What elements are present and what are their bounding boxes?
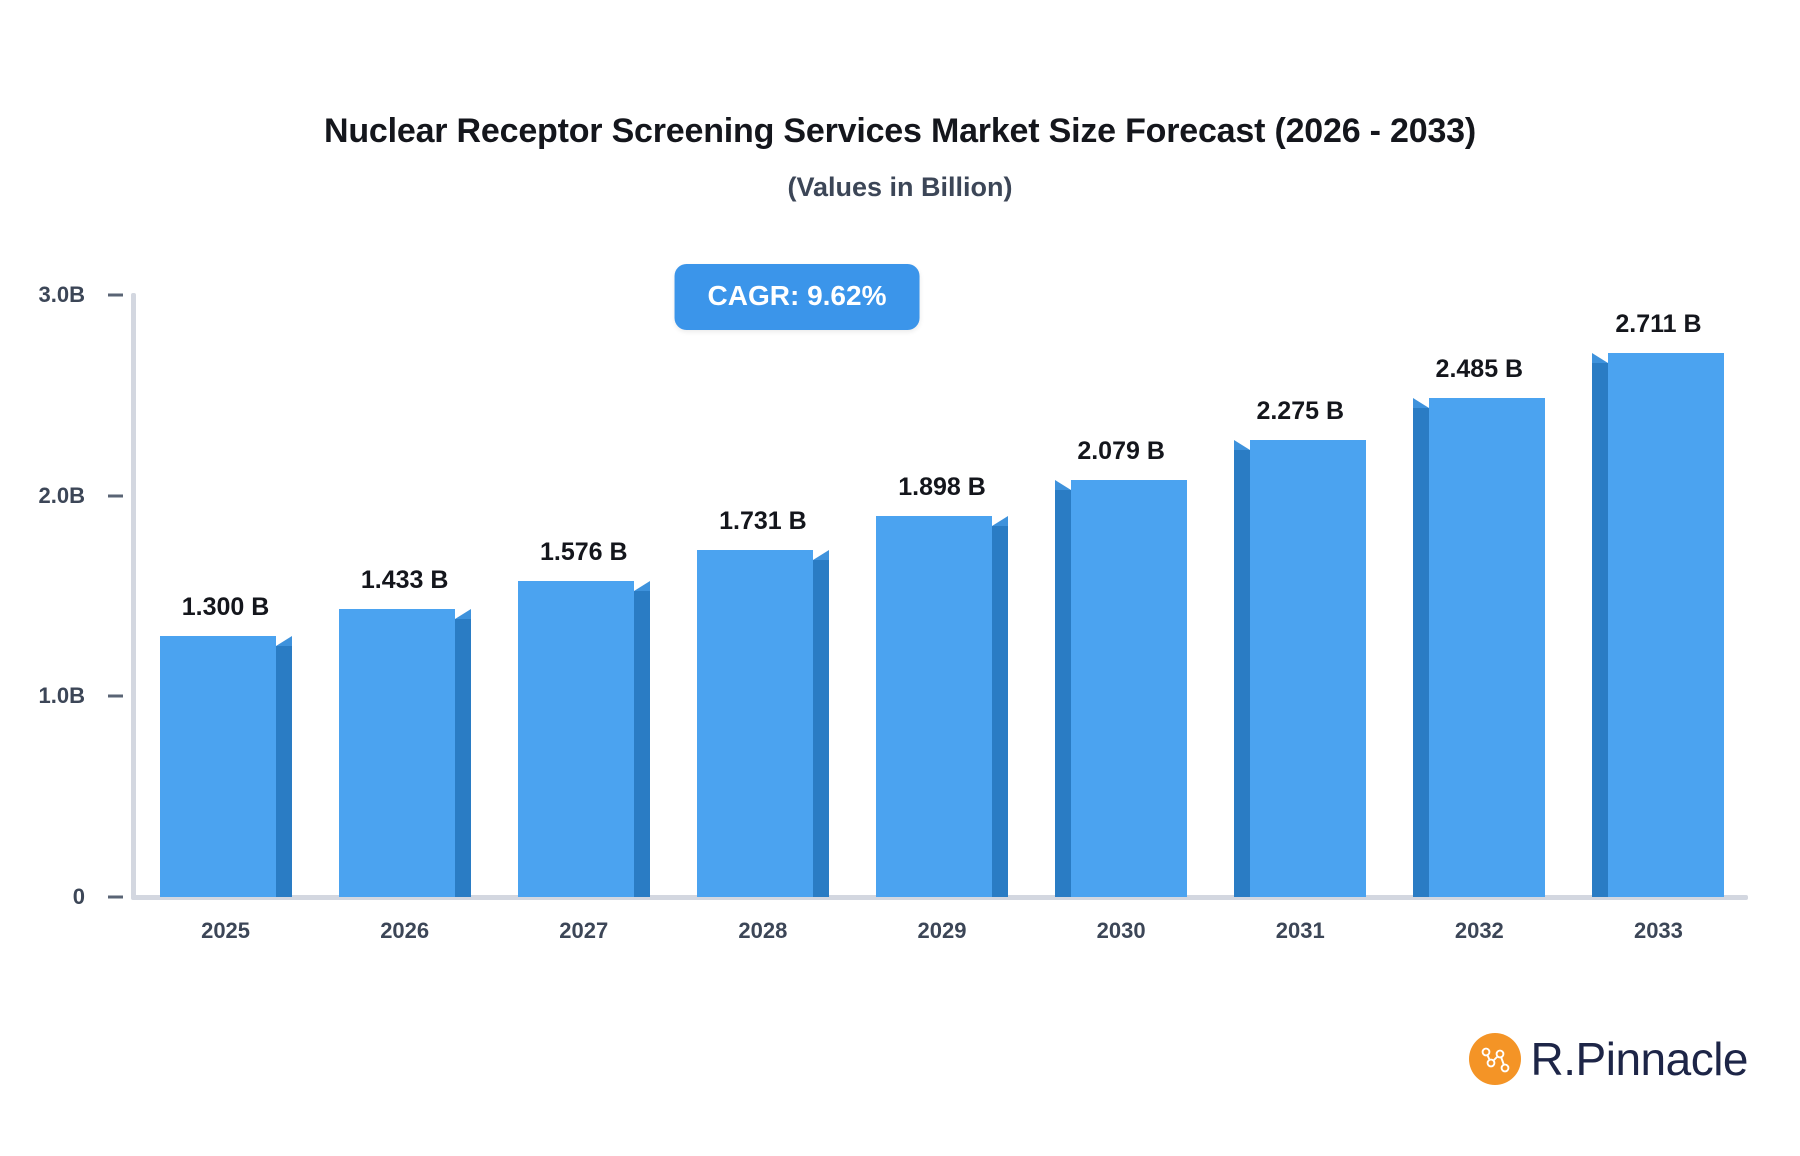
bar-front-face xyxy=(1429,398,1545,897)
bar-front-face xyxy=(518,581,634,897)
bar-top-face xyxy=(1413,398,1429,408)
bar-value-label: 2.485 B xyxy=(1436,355,1524,384)
bar-top-face xyxy=(1055,480,1071,490)
bar[interactable]: 2.485 B xyxy=(1413,398,1545,897)
network-graph-icon xyxy=(1469,1033,1521,1085)
bar-side-face xyxy=(276,646,292,897)
y-tick-mark xyxy=(108,695,123,698)
y-tick-mark xyxy=(108,494,123,497)
bar-side-face xyxy=(1234,450,1250,897)
bar-value-label: 1.898 B xyxy=(898,473,986,502)
chart-canvas: Nuclear Receptor Screening Services Mark… xyxy=(0,0,1800,1156)
bar-side-face xyxy=(634,591,650,897)
bar-side-face xyxy=(992,526,1008,897)
bar-value-label: 1.731 B xyxy=(719,507,807,536)
x-tick-label: 2031 xyxy=(1211,918,1390,944)
y-tick-label: 2.0B xyxy=(39,483,85,509)
bar[interactable]: 1.731 B xyxy=(697,550,829,897)
bar-value-label: 2.079 B xyxy=(1077,437,1165,466)
bar[interactable]: 1.300 B xyxy=(160,636,292,897)
bar-value-label: 2.711 B xyxy=(1615,310,1701,339)
brand-logo: R.Pinnacle xyxy=(1469,1032,1748,1086)
y-tick-label: 1.0B xyxy=(39,683,85,709)
bar-front-face xyxy=(876,516,992,897)
bar-top-face xyxy=(276,636,292,646)
bar-front-face xyxy=(1071,480,1187,897)
bar-top-face xyxy=(1592,353,1608,363)
x-tick-label: 2032 xyxy=(1390,918,1569,944)
bar[interactable]: 2.711 B xyxy=(1592,353,1724,897)
bar-side-face xyxy=(455,619,471,897)
bar[interactable]: 2.275 B xyxy=(1234,440,1366,897)
y-axis-line xyxy=(131,293,136,898)
bar[interactable]: 2.079 B xyxy=(1055,480,1187,897)
bar-value-label: 1.300 B xyxy=(182,593,270,622)
bar-side-face xyxy=(813,560,829,897)
x-tick-label: 2025 xyxy=(136,918,315,944)
bar-side-face xyxy=(1413,408,1429,897)
bar-value-label: 2.275 B xyxy=(1256,397,1344,426)
plot-area: 3.0B2.0B1.0B0 1.300 B1.433 B1.576 B1.731… xyxy=(0,0,1800,1156)
bar-top-face xyxy=(813,550,829,560)
y-tick-label: 0 xyxy=(73,884,85,910)
x-tick-label: 2027 xyxy=(494,918,673,944)
bar-front-face xyxy=(339,609,455,897)
x-tick-label: 2028 xyxy=(673,918,852,944)
brand-name: R.Pinnacle xyxy=(1531,1032,1748,1086)
y-tick-mark xyxy=(108,294,123,297)
x-tick-label: 2033 xyxy=(1569,918,1748,944)
bar[interactable]: 1.898 B xyxy=(876,516,1008,897)
x-tick-label: 2029 xyxy=(852,918,1031,944)
bar[interactable]: 1.433 B xyxy=(339,609,471,897)
bar-top-face xyxy=(455,609,471,619)
bar-front-face xyxy=(697,550,813,897)
bar-top-face xyxy=(992,516,1008,526)
bar-top-face xyxy=(634,581,650,591)
bar-top-face xyxy=(1234,440,1250,450)
bar[interactable]: 1.576 B xyxy=(518,581,650,897)
bar-side-face xyxy=(1592,363,1608,897)
bar-value-label: 1.433 B xyxy=(361,566,449,595)
bar-front-face xyxy=(1250,440,1366,897)
bar-side-face xyxy=(1055,490,1071,897)
bar-value-label: 1.576 B xyxy=(540,538,628,567)
bar-front-face xyxy=(1608,353,1724,897)
x-tick-label: 2030 xyxy=(1032,918,1211,944)
y-tick-mark xyxy=(108,896,123,899)
bar-front-face xyxy=(160,636,276,897)
y-tick-label: 3.0B xyxy=(39,282,85,308)
x-tick-label: 2026 xyxy=(315,918,494,944)
